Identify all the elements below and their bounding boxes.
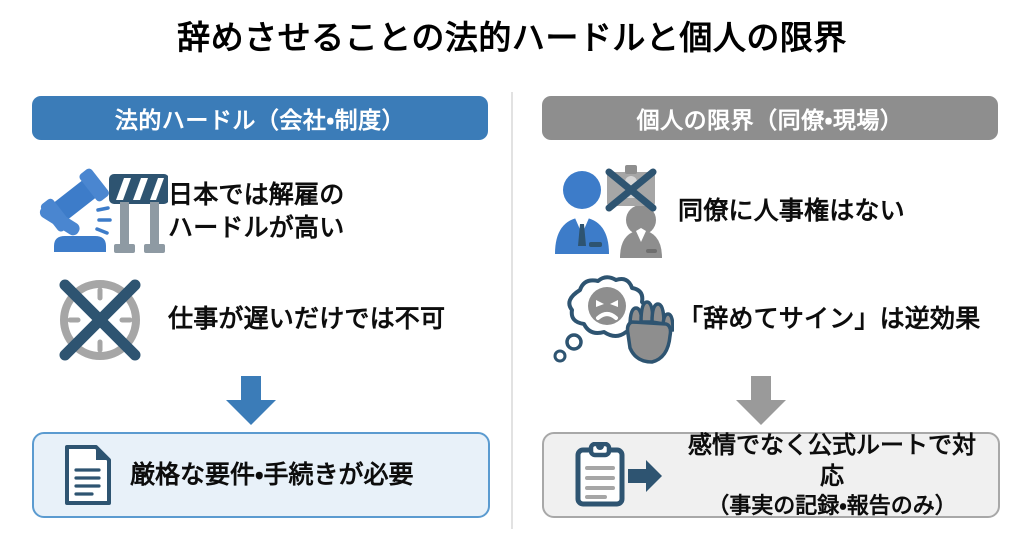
gavel-barrier-icon — [32, 164, 168, 260]
point-row-legal-1: 日本では解雇の ハードルが高い — [32, 162, 492, 262]
conclusion-box-individual: 感情でなく公式ルートで対応 （事実の記録・報告のみ） — [542, 432, 1000, 518]
column-individual: 個人の限界（同僚・現場） — [530, 90, 1010, 535]
conclusion-text-individual-main: 感情でなく公式ルートで対応 — [688, 432, 976, 490]
conclusion-text-legal: 厳格な要件・手続きが必要 — [130, 459, 414, 492]
thought-bubble-stop-hand-icon — [542, 272, 678, 368]
down-arrow-blue-icon — [224, 376, 278, 426]
column-header-individual: 個人の限界（同僚・現場） — [542, 96, 998, 140]
column-header-legal: 法的ハードル（会社・制度） — [32, 96, 488, 140]
clock-crossed-out-icon — [32, 272, 168, 368]
page-title: 辞めさせることの法的ハードルと個人の限界 — [0, 18, 1024, 58]
infographic-page: 辞めさせることの法的ハードルと個人の限界 法的ハードル（会社・制度） — [0, 0, 1024, 541]
clipboard-arrow-icon — [570, 443, 666, 507]
down-arrow-gray-icon — [734, 376, 788, 426]
columns-container: 法的ハードル（会社・制度） — [0, 90, 1024, 535]
point-text-legal-1: 日本では解雇の ハードルが高い — [168, 179, 344, 246]
point-text-individual-1: 同僚に人事権はない — [678, 195, 905, 229]
point-text-individual-2: 「辞めてサイン」は逆効果 — [678, 303, 980, 337]
document-icon — [60, 443, 116, 507]
point-row-individual-1: 同僚に人事権はない — [542, 162, 1002, 262]
conclusion-text-individual-sub: （事実の記録・報告のみ） — [680, 492, 984, 521]
conclusion-text-individual: 感情でなく公式ルートで対応 （事実の記録・報告のみ） — [680, 430, 984, 521]
point-text-legal-2: 仕事が遅いだけでは不可 — [168, 303, 445, 337]
point-row-legal-2: 仕事が遅いだけでは不可 — [32, 272, 492, 367]
point-row-individual-2: 「辞めてサイン」は逆効果 — [542, 272, 1002, 367]
column-legal: 法的ハードル（会社・制度） — [20, 90, 500, 535]
point-text-legal-1-line2: ハードルが高い — [168, 214, 344, 242]
conclusion-box-legal: 厳格な要件・手続きが必要 — [32, 432, 490, 518]
colleagues-no-authority-icon — [542, 164, 678, 260]
point-text-legal-1-line1: 日本では解雇の — [168, 181, 344, 209]
